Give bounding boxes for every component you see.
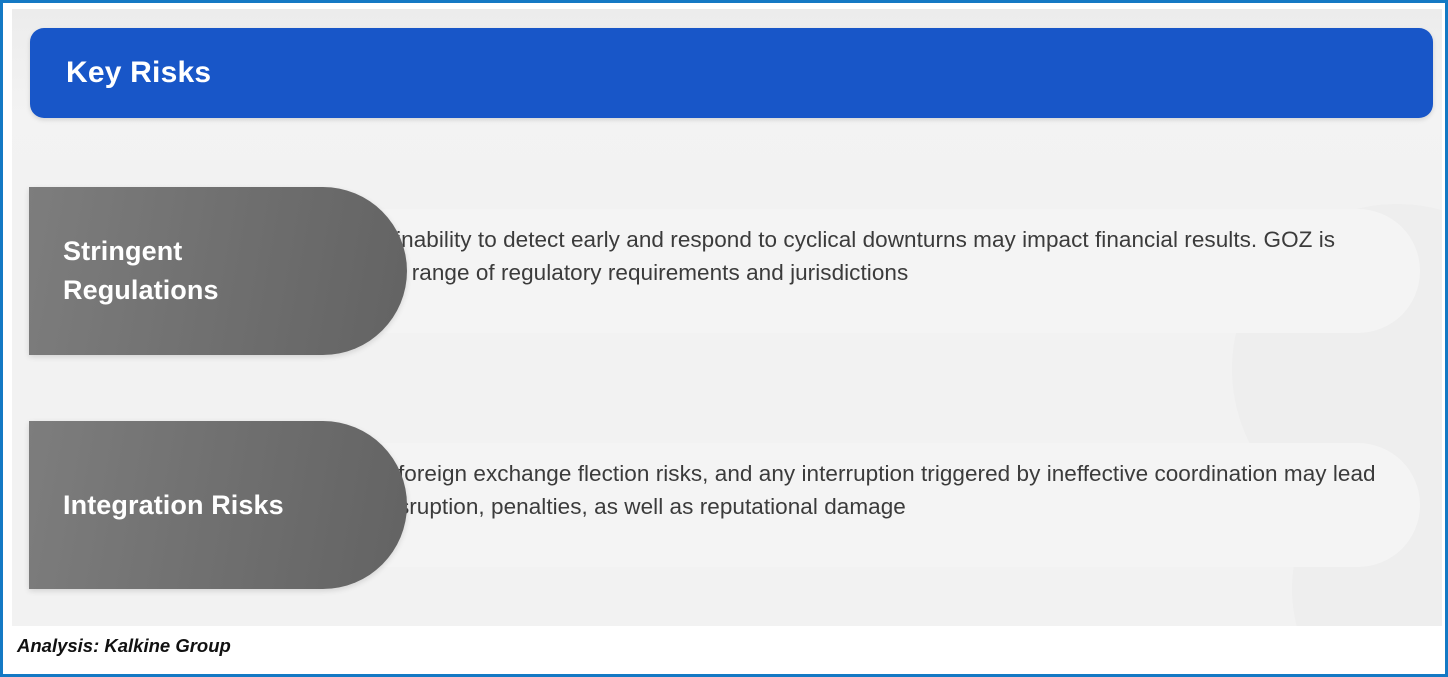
risk-row: Integration risk, foreign exchange flect… xyxy=(12,421,1442,589)
risk-label-pill: Integration Risks xyxy=(29,421,407,589)
risk-label: Integration Risks xyxy=(63,486,284,525)
infographic-screenshot: Key Risks The company’s inability to det… xyxy=(0,0,1448,677)
header-bar: Key Risks xyxy=(30,28,1433,118)
key-risks-card: Key Risks The company’s inability to det… xyxy=(12,9,1442,629)
risk-row: The company’s inability to detect early … xyxy=(12,187,1442,355)
risk-label: Stringent Regulations xyxy=(63,232,313,310)
footer: Analysis: Kalkine Group xyxy=(12,626,1442,666)
risk-list: The company’s inability to detect early … xyxy=(12,187,1442,629)
risk-description: Integration risk, foreign exchange flect… xyxy=(237,457,1380,523)
page-title: Key Risks xyxy=(66,56,211,90)
risk-description: The company’s inability to detect early … xyxy=(237,223,1380,289)
analysis-credit: Analysis: Kalkine Group xyxy=(17,635,231,657)
risk-label-pill: Stringent Regulations xyxy=(29,187,407,355)
